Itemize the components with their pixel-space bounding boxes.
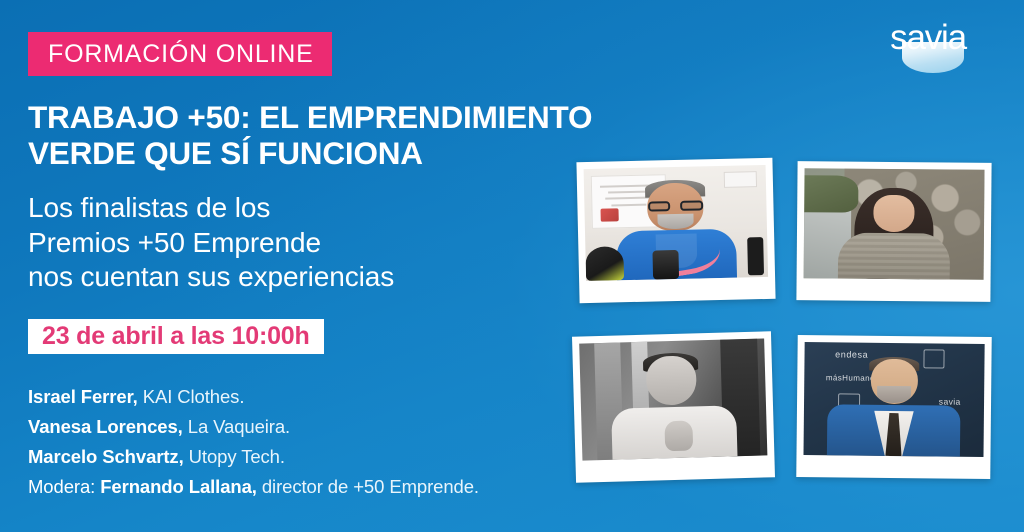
speaker-prefix: Modera: <box>28 476 100 497</box>
photo-image: endesa másHumano savia <box>803 342 984 457</box>
page-subtitle-line-3: nos cuentan sus experiencias <box>28 260 548 295</box>
speaker-photo-israel-ferrer <box>576 158 775 303</box>
event-date-badge: 23 de abril a las 10:00h <box>28 319 324 354</box>
savia-wordmark: savia <box>880 16 976 60</box>
savia-logo: savia <box>880 16 976 94</box>
wall-tag <box>724 171 757 188</box>
list-item: Israel Ferrer, KAI Clothes. <box>28 382 588 412</box>
speaker-name: Vanesa Lorences, <box>28 416 183 437</box>
speaker-name: Fernando Lallana, <box>100 476 257 497</box>
backdrop-badge-50-top <box>923 349 945 368</box>
speaker-list: Israel Ferrer, KAI Clothes. Vanesa Loren… <box>28 382 588 502</box>
hand-shape <box>665 420 694 451</box>
page-title-line-1: TRABAJO +50: EL EMPRENDIMIENTO <box>28 99 608 135</box>
vegetation <box>804 175 858 213</box>
left-content-column: FORMACIÓN ONLINE TRABAJO +50: EL EMPREND… <box>28 0 573 532</box>
foreground-object-left <box>585 247 624 281</box>
page-subtitle: Los finalistas de los Premios +50 Empren… <box>28 191 548 295</box>
format-badge-label: FORMACIÓN ONLINE <box>48 40 314 69</box>
page-title-line-2: VERDE QUE SÍ FUNCIONA <box>28 135 608 171</box>
speaker-photo-fernando-lallana: endesa másHumano savia <box>796 335 991 479</box>
sweater-shape <box>838 232 950 279</box>
list-item: Modera: Fernando Lallana, director de +5… <box>28 472 588 502</box>
beard-shape <box>877 386 911 403</box>
foreground-object-center <box>653 250 679 280</box>
photo-image <box>579 338 767 460</box>
backdrop-brand-endesa: endesa <box>835 349 868 359</box>
speaker-org: director de +50 Emprende. <box>257 476 479 497</box>
glasses-icon <box>648 200 703 211</box>
speaker-org: KAI Clothes. <box>138 386 245 407</box>
format-badge: FORMACIÓN ONLINE <box>28 32 332 76</box>
face-shape <box>645 356 696 407</box>
photo-image <box>804 168 985 280</box>
list-item: Marcelo Schvartz, Utopy Tech. <box>28 442 588 472</box>
speaker-photo-marcelo-schvartz <box>572 331 775 482</box>
speaker-photo-vanesa-lorences <box>796 161 991 302</box>
speaker-org: La Vaqueira. <box>183 416 290 437</box>
page-title: TRABAJO +50: EL EMPRENDIMIENTO VERDE QUE… <box>28 99 608 171</box>
speaker-name: Israel Ferrer, <box>28 386 138 407</box>
speaker-org: Utopy Tech. <box>184 446 285 467</box>
backdrop-brand-mashumano: másHumano <box>826 373 875 383</box>
promo-banner: FORMACIÓN ONLINE TRABAJO +50: EL EMPREND… <box>0 0 1024 532</box>
photo-image <box>584 165 768 281</box>
foreground-object-right <box>747 237 764 275</box>
page-subtitle-line-2: Premios +50 Emprende <box>28 226 548 261</box>
speaker-name: Marcelo Schvartz, <box>28 446 184 467</box>
page-subtitle-line-1: Los finalistas de los <box>28 191 548 226</box>
list-item: Vanesa Lorences, La Vaqueira. <box>28 412 588 442</box>
event-date-label: 23 de abril a las 10:00h <box>42 322 310 351</box>
